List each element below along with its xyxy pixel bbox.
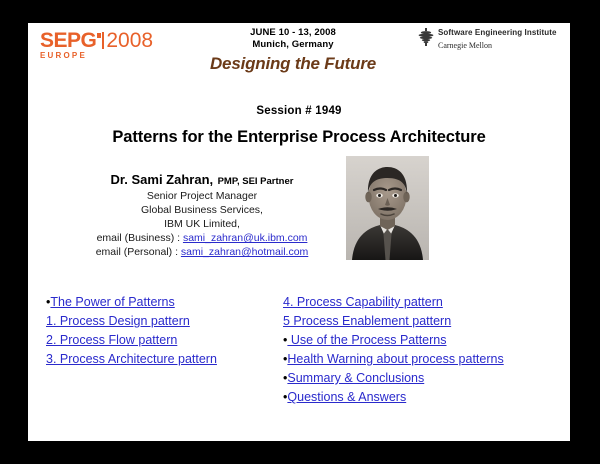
author-credentials: PMP, SEI Partner	[218, 176, 294, 187]
slide-header: SEPG 2008 EUROPE JUNE 10 - 13, 2008 Muni…	[28, 23, 570, 75]
author-photo	[346, 156, 429, 260]
event-info: JUNE 10 - 13, 2008 Munich, Germany Desig…	[178, 27, 408, 74]
email-business-link[interactable]: sami_zahran@uk.ibm.com	[183, 232, 307, 244]
session-heading: Session # 1949 Patterns for the Enterpri…	[28, 105, 570, 147]
session-title: Patterns for the Enterprise Process Arch…	[28, 128, 570, 147]
email-personal-link[interactable]: sami_zahran@hotmail.com	[181, 246, 308, 258]
sei-branding: Software Engineering Institute Carnegie …	[418, 27, 557, 51]
logo-tick-mark	[97, 33, 101, 38]
agenda-link[interactable]: Questions & Answers	[287, 390, 406, 404]
logo-brand-text: SEPG	[40, 31, 96, 51]
slide-canvas: SEPG 2008 EUROPE JUNE 10 - 13, 2008 Muni…	[28, 23, 570, 441]
sei-university-name: Carnegie Mellon	[438, 40, 557, 51]
agenda-link[interactable]: 2. Process Flow pattern	[46, 333, 177, 347]
portrait-image	[346, 156, 429, 260]
author-role-3: IBM UK Limited,	[66, 217, 338, 231]
email-personal-line: email (Personal) : sami_zahran@hotmail.c…	[66, 245, 338, 259]
agenda-column-right: 4. Process Capability pattern 5 Process …	[283, 293, 563, 407]
author-block: Dr. Sami Zahran, PMP, SEI Partner Senior…	[66, 171, 338, 259]
sei-globe-icon	[418, 28, 434, 46]
sei-institute-name: Software Engineering Institute	[438, 28, 557, 38]
event-date: JUNE 10 - 13, 2008	[178, 27, 408, 39]
agenda-item[interactable]: •Health Warning about process patterns	[283, 350, 563, 369]
logo-region-text: EUROPE	[40, 51, 155, 60]
agenda-item[interactable]: 1. Process Design pattern	[46, 312, 276, 331]
logo-year-text: 2008	[106, 31, 153, 51]
event-location: Munich, Germany	[178, 39, 408, 51]
author-role-2: Global Business Services,	[66, 203, 338, 217]
email-personal-label: email (Personal) :	[96, 246, 178, 258]
agenda-link[interactable]: 4. Process Capability pattern	[283, 295, 443, 309]
agenda-link[interactable]: Use of the Process Patterns	[287, 333, 446, 347]
event-tagline: Designing the Future	[178, 54, 408, 74]
agenda-item[interactable]: 4. Process Capability pattern	[283, 293, 563, 312]
agenda-link[interactable]: Health Warning about process patterns	[287, 352, 503, 366]
agenda-item[interactable]: 5 Process Enablement pattern	[283, 312, 563, 331]
agenda-item[interactable]: •Summary & Conclusions	[283, 369, 563, 388]
author-name-line: Dr. Sami Zahran, PMP, SEI Partner	[66, 171, 338, 189]
agenda-item[interactable]: •The Power of Patterns	[46, 293, 276, 312]
agenda-item[interactable]: 3. Process Architecture pattern	[46, 350, 276, 369]
agenda-link[interactable]: 5 Process Enablement pattern	[283, 314, 451, 328]
email-business-label: email (Business) :	[97, 232, 180, 244]
agenda-link[interactable]: The Power of Patterns	[50, 295, 174, 309]
agenda-item[interactable]: • Use of the Process Patterns	[283, 331, 563, 350]
session-number: Session # 1949	[28, 105, 570, 117]
agenda-link[interactable]: Summary & Conclusions	[287, 371, 424, 385]
agenda-link[interactable]: 1. Process Design pattern	[46, 314, 190, 328]
sepg-logo: SEPG 2008 EUROPE	[40, 30, 155, 60]
agenda-column-left: •The Power of Patterns 1. Process Design…	[46, 293, 276, 369]
logo-divider-bar	[102, 32, 104, 49]
author-name: Dr. Sami Zahran,	[111, 172, 214, 187]
agenda-link[interactable]: 3. Process Architecture pattern	[46, 352, 217, 366]
email-business-line: email (Business) : sami_zahran@uk.ibm.co…	[66, 231, 338, 245]
agenda-item[interactable]: 2. Process Flow pattern	[46, 331, 276, 350]
agenda-item[interactable]: •Questions & Answers	[283, 388, 563, 407]
author-role-1: Senior Project Manager	[66, 189, 338, 203]
